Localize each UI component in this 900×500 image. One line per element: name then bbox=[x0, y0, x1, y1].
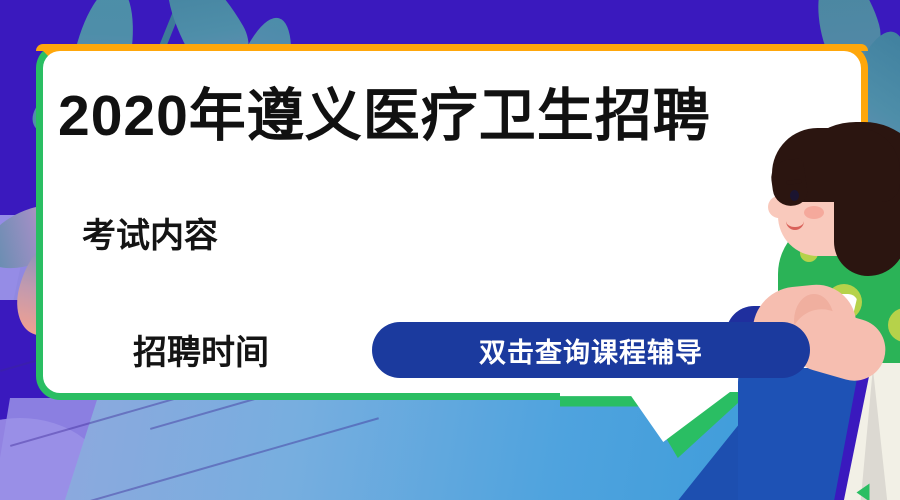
speech-bubble-tail bbox=[560, 392, 750, 458]
page-title: 2020年遵义医疗卫生招聘 bbox=[58, 70, 711, 152]
eye bbox=[790, 190, 799, 201]
query-course-button[interactable]: 双击查询课程辅导 bbox=[372, 322, 810, 378]
poster-root: 2020年遵义医疗卫生招聘 考试内容 招聘时间 双击查询课程辅导 bbox=[0, 0, 900, 500]
exam-content-label: 考试内容 bbox=[82, 208, 218, 257]
blush bbox=[804, 206, 824, 219]
skirt-triangle-icon bbox=[857, 484, 870, 500]
recruit-time-label: 招聘时间 bbox=[133, 325, 269, 374]
woman-illustration bbox=[742, 118, 900, 500]
card-top-border bbox=[36, 44, 868, 51]
